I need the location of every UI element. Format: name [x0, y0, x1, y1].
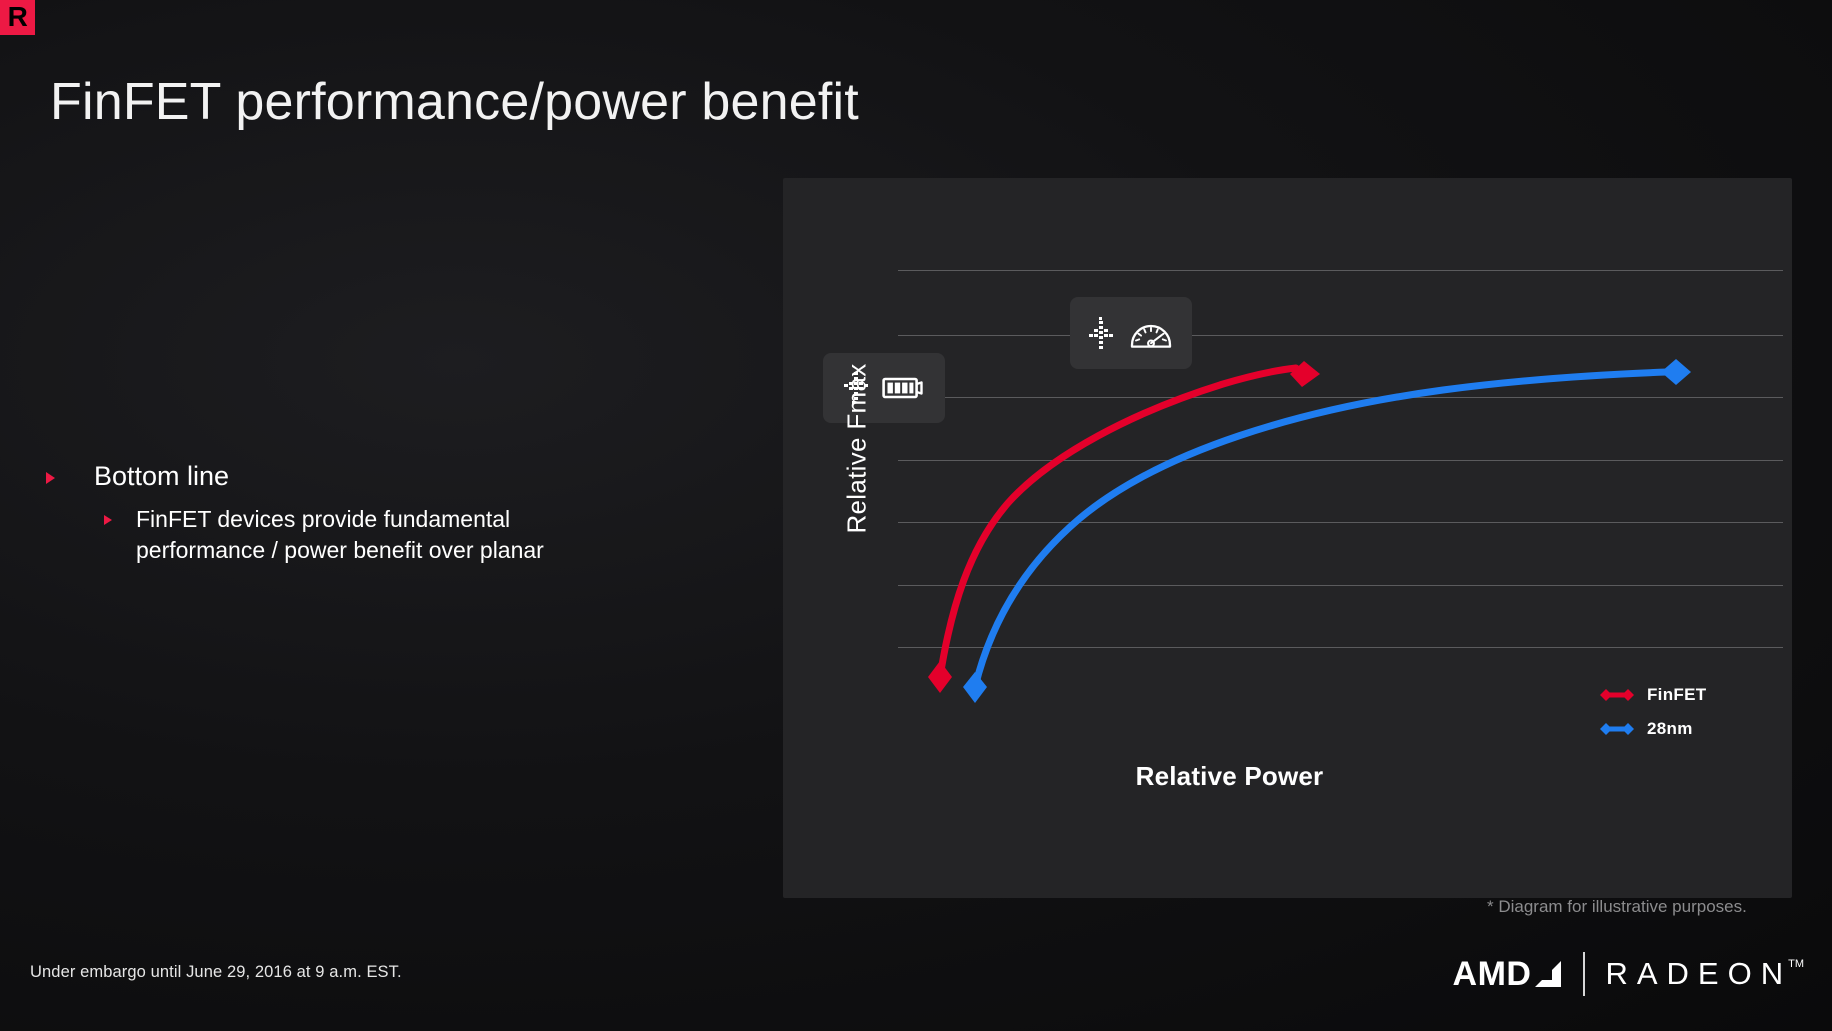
bullet-primary-label: Bottom line [94, 460, 229, 494]
x-axis-label-text: Relative Power [1136, 761, 1324, 791]
legend-label-28nm: 28nm [1647, 719, 1693, 739]
radeon-corner-logo: R [0, 0, 35, 35]
brand-lockup: AMD RADEON TM [1453, 952, 1804, 996]
trademark-symbol: TM [1788, 958, 1804, 970]
battery-icon [882, 374, 926, 402]
callout-higher-performance [1070, 297, 1192, 369]
legend-swatch-finfet [1599, 687, 1635, 703]
up-arrow-pixel-icon [1087, 315, 1117, 351]
brand-divider [1583, 952, 1585, 996]
chart-footnote: * Diagram for illustrative purposes. [1487, 897, 1747, 917]
legend-item-28nm: 28nm [1599, 712, 1706, 746]
bullet-item-primary: Bottom line [46, 460, 686, 494]
legend-label-finfet: FinFET [1647, 685, 1706, 705]
chart-legend: FinFET 28nm [1599, 678, 1706, 746]
radeon-logo: RADEON TM [1605, 956, 1804, 992]
radeon-wordmark: RADEON [1605, 956, 1792, 992]
amd-arrow-icon [1533, 959, 1563, 989]
x-axis-label: Relative Power [783, 761, 1792, 792]
legend-swatch-28nm [1599, 721, 1635, 737]
y-axis-label: Relative Fmax [842, 329, 873, 569]
bullet-triangle-icon [104, 515, 112, 525]
bullet-item-secondary: FinFET devices provide fundamental perfo… [104, 504, 686, 566]
series-marker-28nm-end [1661, 359, 1691, 385]
speedometer-icon [1127, 315, 1175, 351]
bullet-secondary-label: FinFET devices provide fundamental perfo… [136, 504, 616, 566]
bullet-triangle-icon [46, 472, 55, 484]
amd-logo: AMD [1453, 955, 1564, 994]
embargo-notice: Under embargo until June 29, 2016 at 9 a… [30, 963, 402, 982]
series-line-28nm [975, 372, 1667, 687]
amd-wordmark: AMD [1453, 955, 1532, 994]
chart-plot-area: Relative Fmax Relative Power FinFET [783, 178, 1792, 898]
series-marker-28nm-start [963, 672, 987, 703]
page-title: FinFET performance/power benefit [50, 72, 859, 132]
bullet-list: Bottom line FinFET devices provide funda… [46, 460, 686, 566]
legend-item-finfet: FinFET [1599, 678, 1706, 712]
series-marker-finfet-start [928, 661, 952, 693]
slide-root: R FinFET performance/power benefit Botto… [0, 0, 1832, 1031]
chart-panel: Relative Fmax Relative Power FinFET [783, 178, 1792, 898]
